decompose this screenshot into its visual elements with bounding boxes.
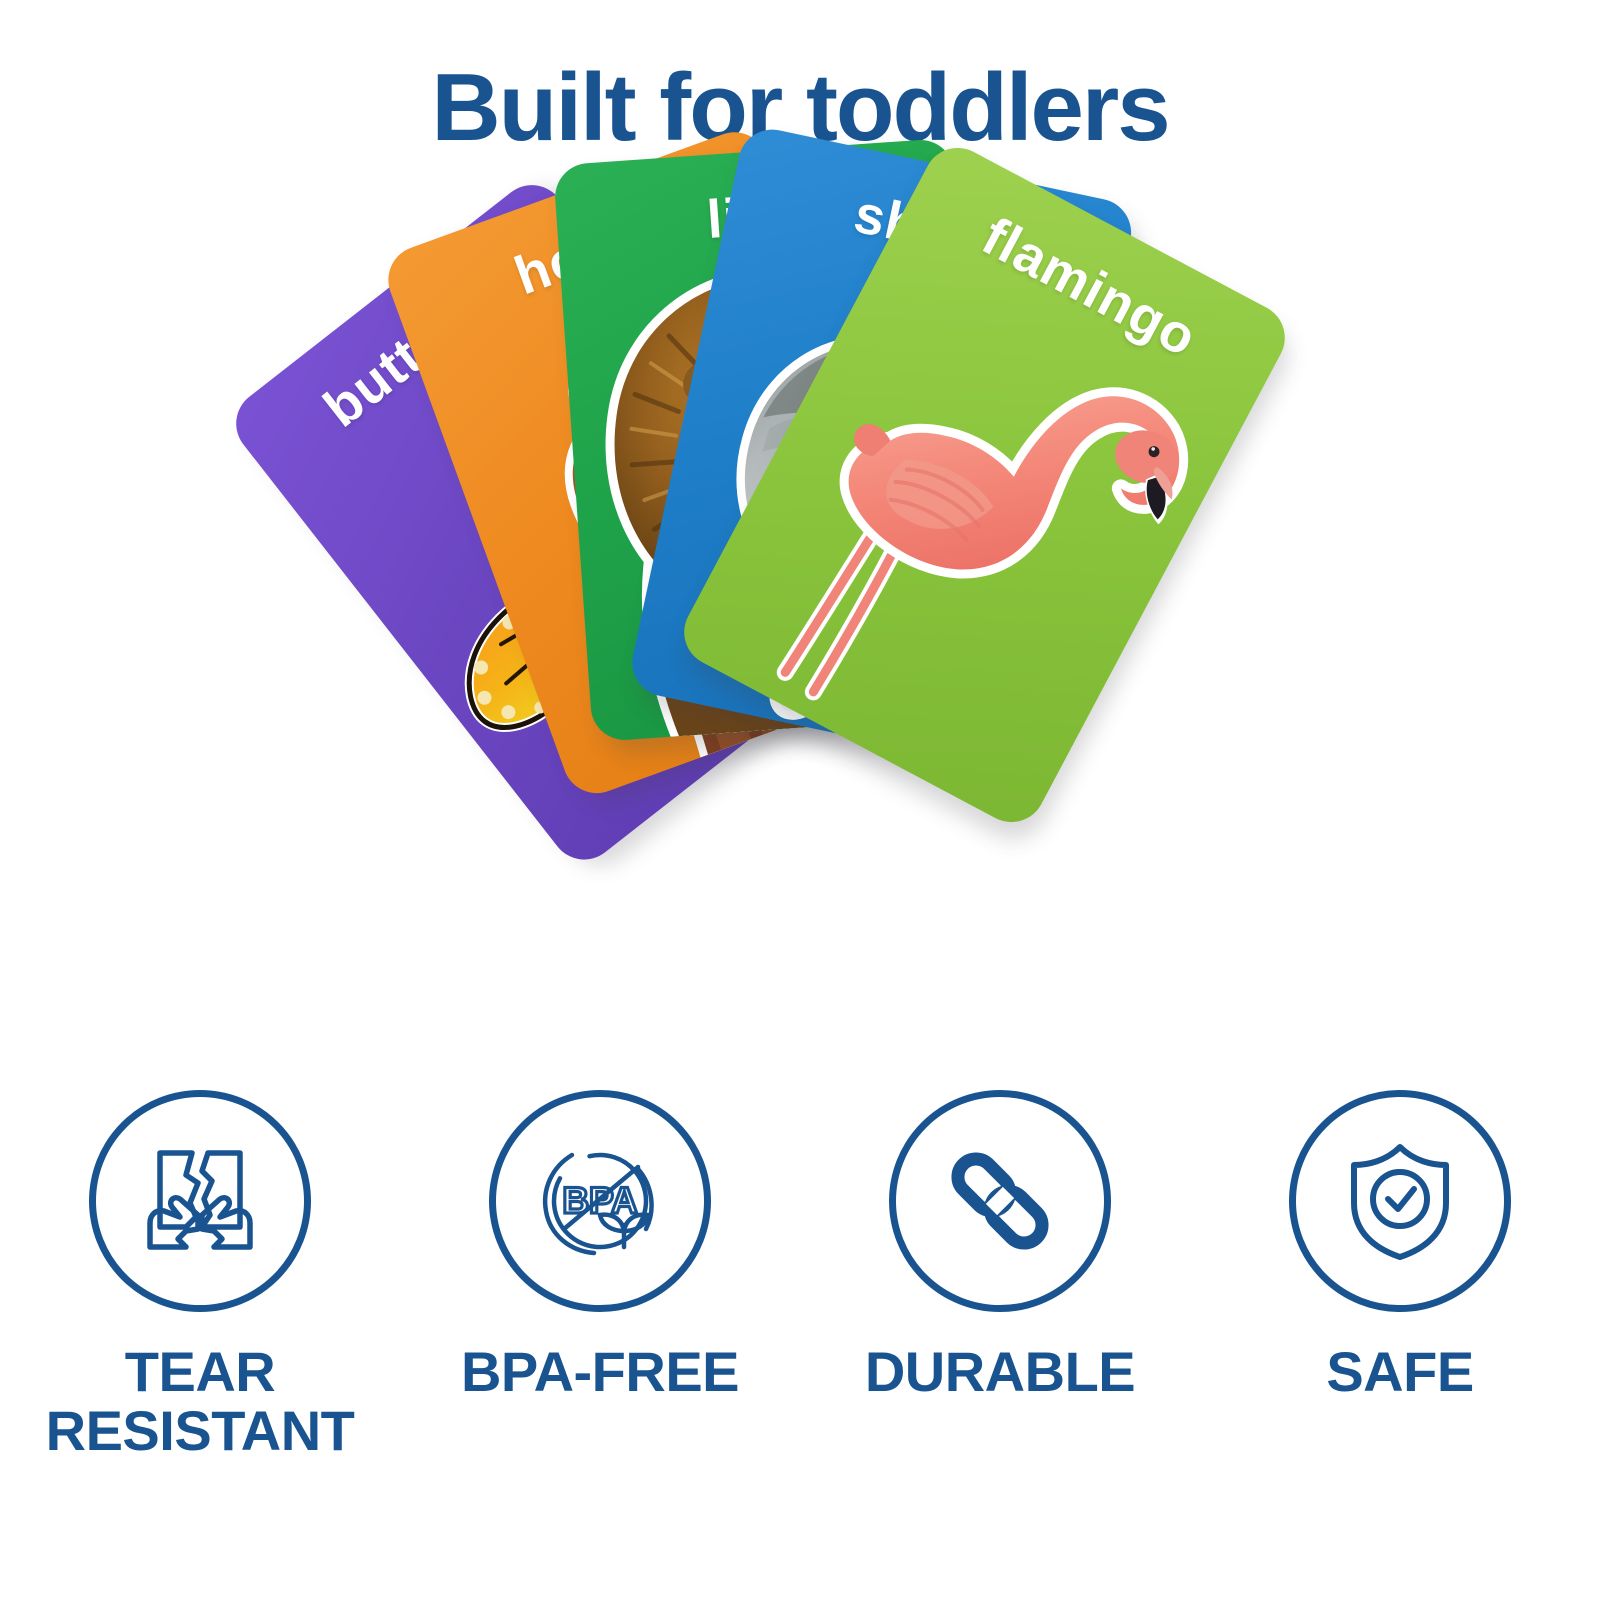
feature-label: BPA-FREE: [461, 1342, 739, 1401]
flashcard-fan: butterfly: [0, 150, 1600, 1100]
feature-safe[interactable]: SAFE: [1220, 1090, 1580, 1401]
durable-circle: [889, 1090, 1111, 1312]
bpa-free-icon: BPA: [530, 1131, 670, 1271]
feature-badges: TEAR RESISTANT BPA: [0, 1090, 1600, 1530]
feature-label: TEAR RESISTANT: [46, 1342, 355, 1461]
safe-circle: [1289, 1090, 1511, 1312]
bpa-free-circle: BPA: [489, 1090, 711, 1312]
feature-bpa-free[interactable]: BPA BPA-FREE: [420, 1090, 780, 1401]
feature-durable[interactable]: DURABLE: [820, 1090, 1180, 1401]
feature-tear-resistant[interactable]: TEAR RESISTANT: [20, 1090, 380, 1461]
tear-resistant-icon: [130, 1131, 270, 1271]
safe-shield-icon: [1330, 1131, 1470, 1271]
durable-chain-icon: [930, 1131, 1070, 1271]
feature-label: SAFE: [1326, 1342, 1473, 1401]
tear-resistant-circle: [89, 1090, 311, 1312]
feature-label: DURABLE: [865, 1342, 1135, 1401]
